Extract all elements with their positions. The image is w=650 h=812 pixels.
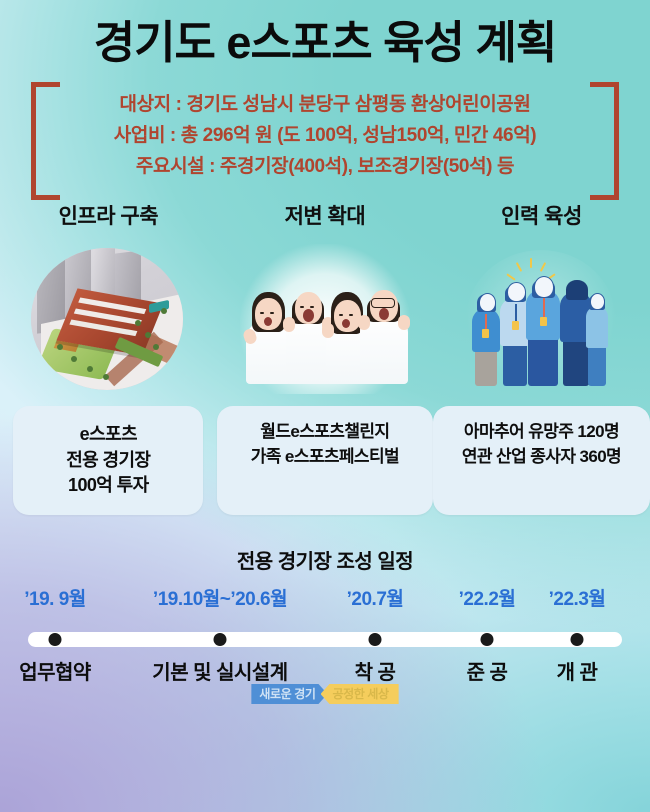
summary-line-site: 대상지 : 경기도 성남시 분당구 삼평동 환상어린이공원 <box>114 90 536 121</box>
pillar-infrastructure: 인프라 구축 <box>0 200 217 394</box>
timeline-dot-icon <box>571 633 584 646</box>
card-line: 100억 투자 <box>23 473 193 499</box>
pillar-cards-row: e스포츠 전용 경기장 100억 투자 월드e스포츠챌린지 가족 e스포츠페스티… <box>0 406 650 515</box>
timeline-date: ’20.7월 <box>347 584 404 611</box>
timeline-section: 전용 경기장 조성 일정 ’19. 9월 업무협약 ’19.10월~’20.6월… <box>0 545 650 698</box>
timeline-label: 업무협약 <box>19 656 91 685</box>
glasses-icon <box>371 298 395 308</box>
bracket-left-icon <box>31 82 60 200</box>
timeline-dot-icon <box>369 633 382 646</box>
timeline-date: ’22.3월 <box>549 584 606 611</box>
timeline-label: 개 관 <box>557 656 598 685</box>
footer: 새로운 경기 공정한 세상 <box>0 684 650 704</box>
slogan-right: 공정한 세상 <box>321 684 399 704</box>
pillar-card-outreach: 월드e스포츠챌린지 가족 e스포츠페스티벌 <box>217 406 433 515</box>
card-line: e스포츠 <box>23 422 193 448</box>
timeline: ’19. 9월 업무협약 ’19.10월~’20.6월 기본 및 실시설계 ’2… <box>0 588 650 698</box>
timeline-dot-icon <box>481 633 494 646</box>
pillar-card-talent: 아마추어 유망주 120명 연관 산업 종사자 360명 <box>433 406 650 515</box>
timeline-dot-icon <box>49 633 62 646</box>
pillar-talent: 인력 육성 <box>433 200 650 394</box>
card-line: 아마추어 유망주 120명 <box>443 420 640 444</box>
timeline-label: 기본 및 실시설계 <box>152 656 287 685</box>
summary-lines: 대상지 : 경기도 성남시 분당구 삼평동 환상어린이공원 사업비 : 총 29… <box>114 90 536 182</box>
bracket-right-icon <box>590 82 619 200</box>
stadium-render-photo <box>23 244 193 394</box>
timeline-date: ’19. 9월 <box>24 584 86 611</box>
timeline-bar <box>28 632 622 647</box>
summary-line-facility: 주요시설 : 주경기장(400석), 보조경기장(50석) 등 <box>114 152 536 183</box>
card-line: 월드e스포츠챌린지 <box>227 420 423 444</box>
business-team-illustration <box>456 244 626 394</box>
slogan-left: 새로운 경기 <box>251 684 327 704</box>
summary-line-budget: 사업비 : 총 296억 원 (도 100억, 성남150억, 민간 46억) <box>114 121 536 152</box>
pillar-title: 인력 육성 <box>501 200 582 230</box>
pillar-title: 인프라 구축 <box>59 200 158 230</box>
slogan-badge: 새로운 경기 공정한 세상 <box>251 684 398 704</box>
pillars-row: 인프라 구축 <box>0 200 650 394</box>
infographic-poster: 경기도 e스포츠 육성 계획 대상지 : 경기도 성남시 분당구 삼평동 환상어… <box>0 0 650 812</box>
timeline-title: 전용 경기장 조성 일정 <box>0 545 650 574</box>
timeline-label: 착 공 <box>355 656 396 685</box>
timeline-date: ’19.10월~’20.6월 <box>153 584 287 611</box>
cheering-people-photo <box>240 244 410 394</box>
card-line: 연관 산업 종사자 360명 <box>443 445 640 469</box>
pillar-card-infrastructure: e스포츠 전용 경기장 100억 투자 <box>13 406 203 515</box>
card-line: 전용 경기장 <box>23 448 193 474</box>
pillar-title: 저변 확대 <box>285 200 366 230</box>
pillar-outreach: 저변 확대 <box>217 200 434 394</box>
timeline-label: 준 공 <box>467 656 508 685</box>
card-line: 가족 e스포츠페스티벌 <box>227 445 423 469</box>
page-title: 경기도 e스포츠 육성 계획 <box>0 0 650 68</box>
summary-info-block: 대상지 : 경기도 성남시 분당구 삼평동 환상어린이공원 사업비 : 총 29… <box>25 80 625 192</box>
timeline-date: ’22.2월 <box>459 584 516 611</box>
timeline-dot-icon <box>214 633 227 646</box>
